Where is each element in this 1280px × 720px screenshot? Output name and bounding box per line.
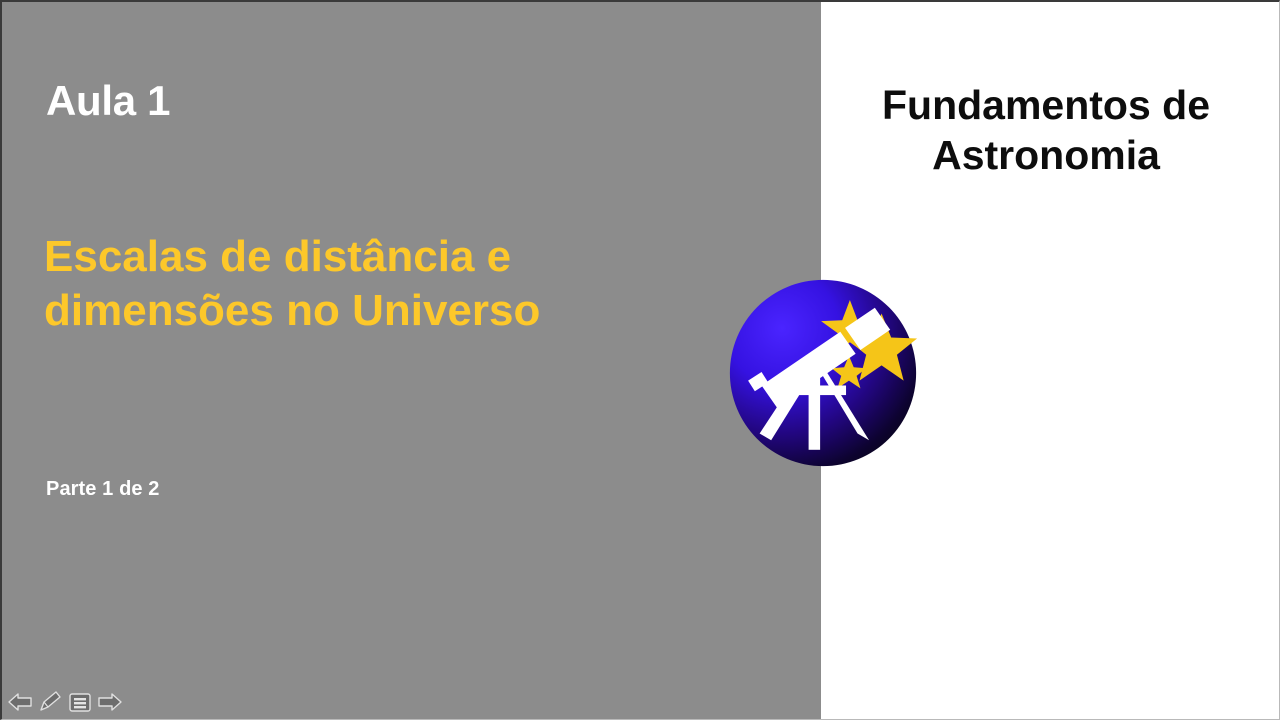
tripod-crossbar [783, 385, 846, 395]
pencil-icon [37, 690, 63, 714]
arrow-left-icon [7, 691, 33, 713]
tripod-center-post [809, 369, 821, 450]
presentation-slide: Aula 1 Escalas de distância e dimensões … [0, 0, 1280, 720]
slide-main-title: Escalas de distância e dimensões no Univ… [44, 230, 644, 337]
slide-menu-button[interactable] [66, 689, 94, 715]
telescope-logo [727, 277, 919, 469]
slide-controls-toolbar[interactable] [6, 689, 124, 715]
lesson-label: Aula 1 [46, 80, 170, 122]
course-title: Fundamentos de Astronomia [821, 80, 1271, 180]
previous-slide-button[interactable] [6, 689, 34, 715]
left-gray-panel: Aula 1 Escalas de distância e dimensões … [2, 2, 821, 719]
next-slide-button[interactable] [96, 689, 124, 715]
pen-annotate-button[interactable] [36, 689, 64, 715]
menu-icon [67, 691, 93, 713]
part-label: Parte 1 de 2 [46, 478, 160, 501]
arrow-right-icon [97, 691, 123, 713]
